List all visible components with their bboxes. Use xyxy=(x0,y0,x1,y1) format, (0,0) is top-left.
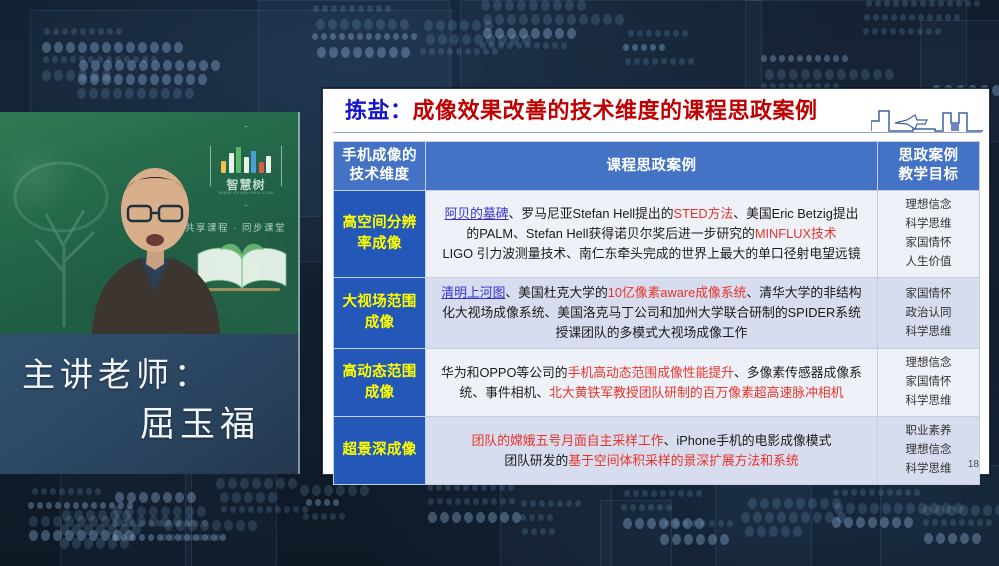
table-row: 大视场范围成像清明上河图、美国杜克大学的10亿像素aware成像系统、清华大学的… xyxy=(334,278,980,349)
case-text: 的PALM、Stefan Hell获得诺贝尔奖后进一步研究的 xyxy=(466,226,754,241)
background-dot-row xyxy=(748,498,841,509)
background-dot-row xyxy=(480,42,567,49)
cell-case: 清明上河图、美国杜克大学的10亿像素aware成像系统、清华大学的非结构化大视场… xyxy=(426,278,878,349)
case-text: 、罗马尼亚Stefan Hell提出的 xyxy=(509,206,674,221)
case-line: 清明上河图、美国杜克大学的10亿像素aware成像系统、清华大学的非结构 xyxy=(433,283,870,303)
header-dimension: 手机成像的 技术维度 xyxy=(334,142,426,191)
background-dot-row xyxy=(164,520,257,531)
background-dot-row xyxy=(77,88,194,99)
background-dot-row xyxy=(115,492,196,503)
case-line: 统、事件相机、北大黄铁军教授团队研制的百万像素超高速脉冲相机 xyxy=(433,383,870,403)
case-text: LIGO 引力波测量技术、南仁东牵头完成的世界上最大的单口径射电望远镜 xyxy=(442,246,860,261)
case-text: 团队研发的 xyxy=(504,453,568,468)
cell-case: 团队的嫦娥五号月面自主采样工作、iPhone手机的电影成像模式团队研发的基于空间… xyxy=(426,417,878,485)
cell-goals: 职业素养理想信念科学思维 xyxy=(878,417,980,485)
case-table: 手机成像的 技术维度 课程思政案例 思政案例 教学目标 高空间分辨率成像阿贝的墓… xyxy=(333,141,980,485)
case-text: 统、事件相机、 xyxy=(460,385,550,400)
cell-case: 阿贝的墓碑、罗马尼亚Stefan Hell提出的STED方法、美国Eric Be… xyxy=(426,191,878,278)
case-text: 华为和OPPO等公司的 xyxy=(441,365,568,380)
case-highlight-red: 北大黄铁军教授团队研制的百万像素超高速脉冲相机 xyxy=(549,385,843,400)
slide-page-number: 18 xyxy=(968,459,979,470)
dimension-line: 高空间分辨 xyxy=(335,213,424,234)
case-line: 化大视场成像系统、美国洛克马丁公司和加州大学联合研制的SPIDER系统 xyxy=(433,303,870,323)
background-dot-row xyxy=(427,484,514,491)
background-block xyxy=(500,480,612,566)
case-text: 、美国Eric Betzig提出 xyxy=(733,206,858,221)
goal-item: 科学思维 xyxy=(880,215,977,234)
background-dot-row xyxy=(832,517,913,528)
background-dot-row xyxy=(833,489,920,496)
screen-root: 智慧树 WWW.ZHIHUISHU.COM 共享课程 · 同步课堂 主讲老师： … xyxy=(0,0,999,566)
case-text: 授课团队的多模式大视场成像工作 xyxy=(556,325,748,340)
cell-goals: 家国情怀政治认同科学思维 xyxy=(878,278,980,349)
background-dot-row xyxy=(624,490,702,497)
background-dot-row xyxy=(924,533,981,544)
cell-case: 华为和OPPO等公司的手机高动态范围成像性能提升、多像素传感器成像系统、事件相机… xyxy=(426,349,878,417)
case-highlight-red: 10亿像素aware成像系统 xyxy=(608,285,747,300)
background-dot-row xyxy=(44,28,122,35)
background-dot-row xyxy=(313,5,391,12)
dimension-line: 率成像 xyxy=(335,234,424,255)
background-dot-row xyxy=(625,58,694,65)
case-text: 、iPhone手机的电影成像模式 xyxy=(664,433,832,448)
goal-item: 科学思维 xyxy=(880,323,977,342)
teacher-name-panel: 主讲老师： 屈玉福 xyxy=(0,334,300,474)
background-dot-row xyxy=(621,504,672,511)
goal-item: 人生价值 xyxy=(880,253,977,272)
cell-dimension: 超景深成像 xyxy=(334,417,426,485)
case-line: 团队研发的基于空间体积采样的景深扩展方法和系统 xyxy=(433,451,870,471)
case-text: 、多像素传感器成像系 xyxy=(734,365,862,380)
skyline-airplane-decoration xyxy=(871,103,983,133)
goal-item: 理想信念 xyxy=(880,354,977,373)
case-highlight-red: 手机高动态范围成像性能提升 xyxy=(568,365,734,380)
table-row: 高动态范围成像华为和OPPO等公司的手机高动态范围成像性能提升、多像素传感器成像… xyxy=(334,349,980,417)
dimension-line: 超景深成像 xyxy=(335,440,424,461)
background-dot-row xyxy=(312,33,417,40)
background-dot-row xyxy=(428,512,521,523)
background-dot-row xyxy=(220,492,277,503)
background-dot-row xyxy=(741,512,846,523)
case-highlight-red: MINFLUX技术 xyxy=(755,226,837,241)
header-dimension-line1: 手机成像的 xyxy=(336,147,423,166)
header-goal-line1: 思政案例 xyxy=(880,147,977,166)
cell-dimension: 高动态范围成像 xyxy=(334,349,426,417)
cell-goals: 理想信念家国情怀科学思维 xyxy=(878,349,980,417)
background-dot-row xyxy=(420,48,498,55)
background-dot-row xyxy=(745,526,802,537)
case-text: 化大视场成像系统、美国洛克马丁公司和加州大学联合研制的SPIDER系统 xyxy=(442,305,861,320)
table-row: 超景深成像团队的嫦娥五号月面自主采样工作、iPhone手机的电影成像模式团队研发… xyxy=(334,417,980,485)
case-line: LIGO 引力波测量技术、南仁东牵头完成的世界上最大的单口径射电望远镜 xyxy=(433,244,870,264)
case-line: 的PALM、Stefan Hell获得诺贝尔奖后进一步研究的MINFLUX技术 xyxy=(433,224,870,244)
dimension-line: 大视场范围 xyxy=(335,292,424,313)
background-dot-row xyxy=(664,520,733,527)
header-case: 课程思政案例 xyxy=(426,142,878,191)
panel-divider xyxy=(298,112,300,474)
background-dot-row xyxy=(481,0,586,11)
case-highlight-red: 基于空间体积采样的景深扩展方法和系统 xyxy=(568,453,798,468)
background-dot-row xyxy=(303,513,345,520)
background-dot-row xyxy=(483,14,624,25)
dimension-line: 高动态范围 xyxy=(335,362,424,383)
background-dot-row xyxy=(79,60,220,71)
background-dot-row xyxy=(78,74,207,85)
background-dot-row xyxy=(42,42,183,53)
background-dot-row xyxy=(923,505,999,516)
background-dot-row xyxy=(32,488,101,495)
background-dot-row xyxy=(866,0,980,7)
goal-item: 理想信念 xyxy=(880,196,977,215)
case-line: 华为和OPPO等公司的手机高动态范围成像性能提升、多像素传感器成像系 xyxy=(433,363,870,383)
header-goal: 思政案例 教学目标 xyxy=(878,142,980,191)
background-dot-row xyxy=(522,528,555,535)
table-header-row: 手机成像的 技术维度 课程思政案例 思政案例 教学目标 xyxy=(334,142,980,191)
background-dot-row xyxy=(161,534,221,541)
background-dot-row xyxy=(623,44,665,51)
case-line: 授课团队的多模式大视场成像工作 xyxy=(433,323,870,343)
goal-item: 家国情怀 xyxy=(880,234,977,253)
case-highlight-red: STED方法 xyxy=(674,206,734,221)
goal-item: 职业素养 xyxy=(880,422,977,441)
background-dot-row xyxy=(660,534,729,545)
cell-goals: 理想信念科学思维家国情怀人生价值 xyxy=(878,191,980,278)
teacher-name: 屈玉福 xyxy=(140,396,260,447)
background-dot-row xyxy=(863,28,941,35)
background-dot-row xyxy=(216,478,297,489)
dimension-line: 成像 xyxy=(335,383,424,404)
title-divider xyxy=(333,132,981,133)
header-dimension-line2: 技术维度 xyxy=(336,166,423,185)
case-highlight-blue: 清明上河图 xyxy=(441,285,505,300)
background-dot-row xyxy=(923,519,992,526)
presentation-slide[interactable]: 拣盐：成像效果改善的技术维度的课程思政案例 手机成像的 技术维度 课程思政案例 xyxy=(322,88,990,475)
table-body: 高空间分辨率成像阿贝的墓碑、罗马尼亚Stefan Hell提出的STED方法、美… xyxy=(334,191,980,485)
slide-title-bar: 拣盐：成像效果改善的技术维度的课程思政案例 xyxy=(323,89,989,133)
teacher-video-panel[interactable]: 智慧树 WWW.ZHIHUISHU.COM 共享课程 · 同步课堂 xyxy=(0,112,300,334)
background-dot-row xyxy=(316,19,409,30)
background-dot-row xyxy=(300,485,369,496)
goal-item: 家国情怀 xyxy=(880,285,977,304)
background-dot-row xyxy=(520,514,553,521)
case-highlight-blue: 阿贝的墓碑 xyxy=(445,206,509,221)
goal-item: 科学思维 xyxy=(880,392,977,411)
background-dot-row xyxy=(761,55,848,62)
teacher-label: 主讲老师： xyxy=(22,348,212,396)
goal-item: 科学思维 xyxy=(880,460,977,479)
slide-title-prefix: 拣盐： xyxy=(345,98,413,123)
teacher-avatar xyxy=(80,142,230,334)
background-dot-row xyxy=(306,499,339,506)
background-dot-row xyxy=(113,506,206,517)
case-text: 、美国杜克大学的 xyxy=(505,285,607,300)
case-highlight-red: 团队的嫦娥五号月面自主采样工作 xyxy=(472,433,664,448)
goal-item: 政治认同 xyxy=(880,304,977,323)
case-text: 、清华大学的非结构 xyxy=(746,285,861,300)
goal-item: 家国情怀 xyxy=(880,373,977,392)
background-dot-row xyxy=(483,28,576,39)
case-line: 阿贝的墓碑、罗马尼亚Stefan Hell提出的STED方法、美国Eric Be… xyxy=(433,204,870,224)
background-dot-row xyxy=(521,500,581,507)
goal-item: 理想信念 xyxy=(880,441,977,460)
background-dot-row xyxy=(864,14,960,21)
dimension-line: 成像 xyxy=(335,313,424,334)
case-line: 团队的嫦娥五号月面自主采样工作、iPhone手机的电影成像模式 xyxy=(433,431,870,451)
cell-dimension: 高空间分辨率成像 xyxy=(334,191,426,278)
slide-title-main: 成像效果改善的技术维度的课程思政案例 xyxy=(413,98,818,123)
cell-dimension: 大视场范围成像 xyxy=(334,278,426,349)
background-dot-row xyxy=(317,47,410,58)
header-goal-line2: 教学目标 xyxy=(880,166,977,185)
background-dot-row xyxy=(765,69,894,80)
background-dot-row xyxy=(221,506,308,513)
table-row: 高空间分辨率成像阿贝的墓碑、罗马尼亚Stefan Hell提出的STED方法、美… xyxy=(334,191,980,278)
background-dot-row xyxy=(628,30,688,37)
background-dot-row xyxy=(428,498,515,505)
